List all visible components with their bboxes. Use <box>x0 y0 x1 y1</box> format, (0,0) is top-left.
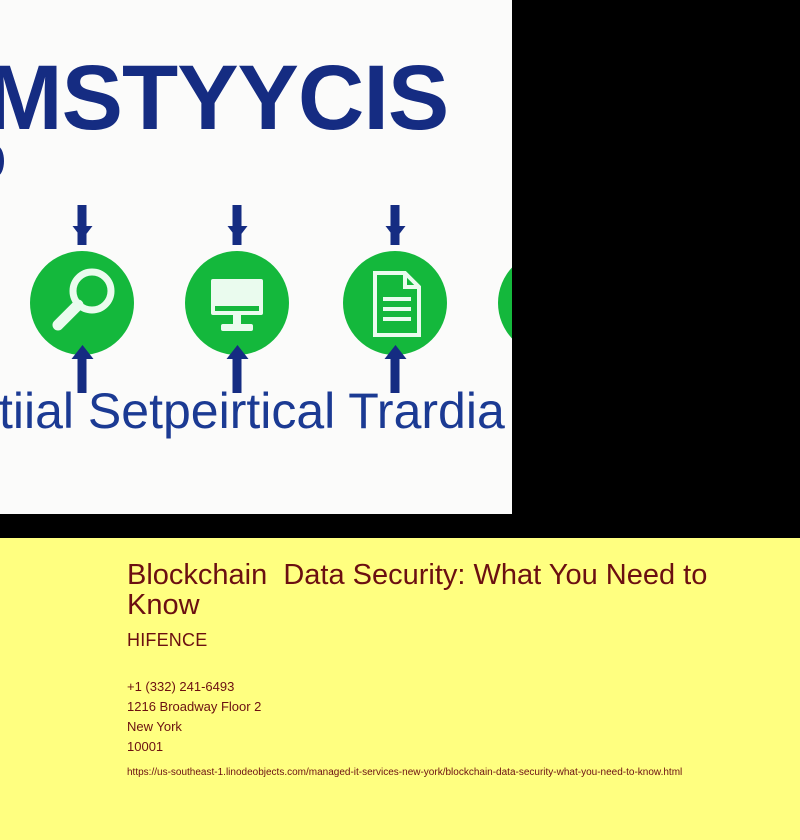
icon-slot-3 <box>343 205 447 375</box>
contact-phone: +1 (332) 241-6493 <box>127 677 760 697</box>
arrow-down-icon <box>78 205 87 245</box>
artwork-image: MSTYYCIS <box>0 0 512 514</box>
info-card: Blockchain Data Security: What You Need … <box>0 538 800 840</box>
contact-zip: 10001 <box>127 737 760 757</box>
source-url[interactable]: https://us-southeast-1.linodeobjects.com… <box>127 767 760 778</box>
icon-slot-2 <box>185 205 289 375</box>
icon-circle <box>343 251 447 355</box>
magnifier-icon <box>30 251 134 355</box>
contact-street: 1216 Broadway Floor 2 <box>127 697 760 717</box>
brand-name: HIFENCE <box>127 630 760 651</box>
icon-circle <box>30 251 134 355</box>
contact-block: +1 (332) 241-6493 1216 Broadway Floor 2 … <box>127 677 760 757</box>
icon-circle <box>185 251 289 355</box>
info-inner: Blockchain Data Security: What You Need … <box>127 560 760 778</box>
artwork-left-fragment <box>0 146 4 176</box>
monitor-icon <box>185 251 289 355</box>
media-region: MSTYYCIS <box>0 0 800 538</box>
arrow-down-icon <box>233 205 242 245</box>
document-icon <box>343 251 447 355</box>
contact-city: New York <box>127 717 760 737</box>
partial-circle-icon <box>498 251 512 355</box>
icon-row <box>0 205 512 375</box>
icon-slot-1 <box>30 205 134 375</box>
icon-slot-4 <box>498 205 512 375</box>
artwork-headline: MSTYYCIS <box>0 52 512 144</box>
page-title: Blockchain Data Security: What You Need … <box>127 560 760 620</box>
arrow-down-icon <box>391 205 400 245</box>
artwork-caption: ctiial Setpeirtical Trardia <box>0 386 512 436</box>
